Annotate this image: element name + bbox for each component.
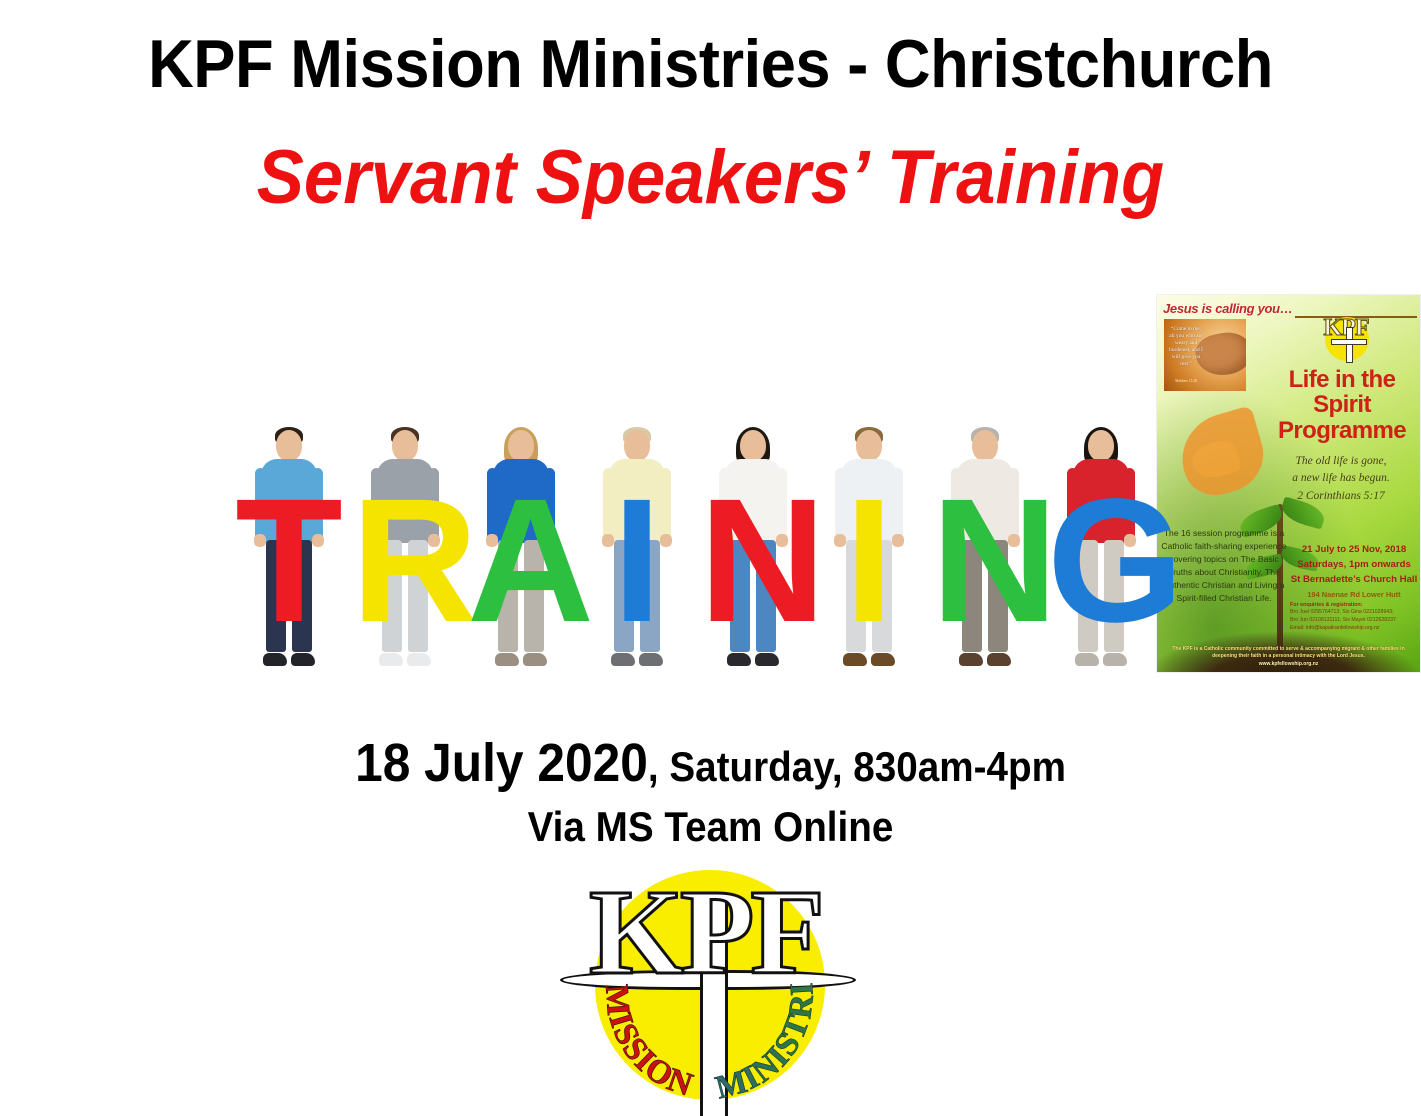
contact-line-2: Bro Jun 02108131111; Sis Mayet 021262823… [1290, 617, 1396, 623]
hand-image-quote-ref: Matthew 11:28 [1170, 379, 1202, 383]
training-letter-n-2: N [931, 486, 1039, 638]
svg-text:MISSION: MISSION [598, 983, 698, 1104]
poster-footer-text: The KPF is a Catholic community committe… [1172, 646, 1404, 660]
hand-image-quote: “Come to me, all you who are weary and b… [1169, 326, 1203, 367]
logo-arc-text: MISSION MINISTRIES [560, 866, 850, 1116]
event-date: 18 July 2020 [355, 733, 648, 793]
poster-footer: The KPF is a Catholic community committe… [1165, 646, 1412, 669]
poster-kpf-logo: KPF [1319, 311, 1373, 363]
training-letter-group: N [700, 392, 806, 678]
event-day-and-time: , Saturday, 830am-4pm [648, 743, 1066, 790]
kpf-badge-cross-horizontal [1331, 339, 1367, 345]
poster-venue: St Bernadette’s Church Hall [1291, 574, 1418, 585]
flyer-canvas: KPF Mission Ministries - Christchurch Se… [0, 0, 1421, 1116]
training-letter-a: A [467, 486, 575, 638]
training-letter-t: T [235, 486, 343, 638]
person-head [276, 430, 302, 461]
reaching-hand-image: “Come to me, all you who are weary and b… [1164, 319, 1246, 391]
training-letter-r: R [351, 486, 459, 638]
kpf-mission-ministries-logo: KPF MISSION MINISTRIES [560, 866, 850, 1116]
person-head [972, 430, 998, 461]
training-letter-group: T [236, 392, 342, 678]
poster-dates: 21 July to 25 Nov, 2018 [1302, 544, 1406, 555]
poster-tagline: Jesus is calling you… [1163, 301, 1293, 316]
training-letter-group: N [932, 392, 1038, 678]
training-letter-group: I [816, 392, 922, 678]
person-head [740, 430, 766, 461]
organisation-title: KPF Mission Ministries - Christchurch [50, 30, 1372, 98]
event-datetime-line: 18 July 2020, Saturday, 830am-4pm [57, 732, 1364, 794]
training-letter-n-1: N [699, 486, 807, 638]
dove-icon [1172, 405, 1272, 503]
poster-time: Saturdays, 1pm onwards [1297, 559, 1411, 570]
kpf-badge-cross-vertical [1346, 327, 1353, 363]
verse-line-1: The old life is gone, [1265, 453, 1417, 470]
training-letter-group: A [468, 392, 574, 678]
person-head [1088, 430, 1114, 461]
poster-schedule: 21 July to 25 Nov, 2018 Saturdays, 1pm o… [1290, 543, 1418, 600]
event-title: Servant Speakers’ Training [50, 140, 1372, 216]
training-letter-g: G [1047, 486, 1155, 638]
person-head [624, 430, 650, 461]
contact-heading: For enquiries & registration: [1290, 601, 1418, 609]
training-letter-i-2: I [815, 486, 923, 638]
training-letter-group: G [1048, 392, 1154, 678]
training-photo-strip: T R [236, 392, 1156, 678]
poster-venue-address: 194 Naenae Rd Lower Hutt [1290, 588, 1418, 600]
contact-email: Email: info@kapatiranfellowship.org.nz [1290, 625, 1379, 631]
person-head [508, 430, 534, 461]
contact-line-1: Bro Joel 0295764713; Sis Gina 0221028943… [1290, 609, 1394, 615]
training-letter-group: R [352, 392, 458, 678]
person-head [392, 430, 418, 461]
poster-contact-block: For enquiries & registration: Bro Joel 0… [1290, 601, 1418, 633]
poster-footer-url: www.kpfellowship.org.nz [1165, 661, 1412, 669]
person-head [856, 430, 882, 461]
poster-headline: Life in the Spirit Programme [1267, 367, 1417, 443]
training-letter-group: I [584, 392, 690, 678]
life-in-the-spirit-poster: Jesus is calling you… “Come to me, all y… [1157, 295, 1420, 672]
training-letter-i-1: I [583, 486, 691, 638]
event-platform: Via MS Team Online [57, 803, 1364, 851]
verse-line-2: a new life has begun. [1265, 470, 1417, 487]
